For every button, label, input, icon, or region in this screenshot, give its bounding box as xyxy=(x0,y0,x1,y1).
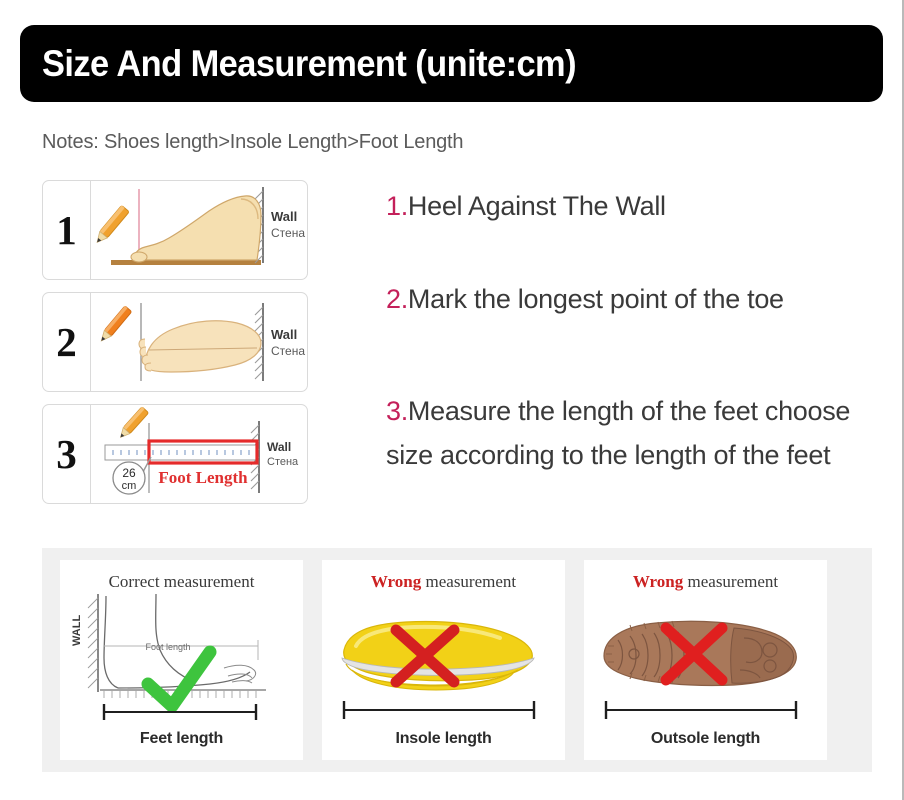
magnifier-value: 26 xyxy=(122,466,136,480)
inner-foot-length-label: Foot length xyxy=(145,642,190,652)
step-box-3: 3 xyxy=(42,404,308,504)
correct-measurement-diagram: WALL Foot length xyxy=(60,588,303,723)
step-box-1: 1 xyxy=(42,180,308,280)
wall-label-en: Wall xyxy=(271,209,297,224)
instruction-number: 2. xyxy=(386,284,408,314)
step-number: 3 xyxy=(56,434,77,475)
step-number-cell: 1 xyxy=(43,181,91,279)
comparison-card-insole: Wrong measurement xyxy=(322,560,565,760)
wall-label-ru: Стена xyxy=(267,456,299,468)
wall-label-en: Wall xyxy=(271,327,297,342)
comparison-caption: Outsole length xyxy=(584,730,827,748)
wall-label-en: Wall xyxy=(267,440,291,454)
foot-top-view-icon: Wall Стена xyxy=(91,293,307,391)
instruction-text: Measure the length of the feet choose si… xyxy=(386,396,850,470)
magnifier-unit: cm xyxy=(122,480,137,492)
step-number: 2 xyxy=(56,322,77,363)
instruction-1: 1.Heel Against The Wall xyxy=(386,185,886,229)
instruction-3: 3.Measure the length of the feet choose … xyxy=(386,390,891,477)
foot-length-label: Foot Length xyxy=(158,468,248,487)
foot-side-profile-icon: Wall Стена xyxy=(91,181,307,279)
instruction-number: 3. xyxy=(386,396,408,426)
notes-text: Notes: Shoes length>Insole Length>Foot L… xyxy=(42,131,463,154)
ruler-measure-icon: 26 cm Foot Length Wall Стена xyxy=(91,405,307,503)
comparison-panel: Correct measurement WALL xyxy=(42,548,872,772)
step-number: 1 xyxy=(56,210,77,251)
step-number-cell: 2 xyxy=(43,293,91,391)
outsole-diagram xyxy=(584,588,827,723)
comparison-card-correct: Correct measurement WALL xyxy=(60,560,303,760)
step-number-cell: 3 xyxy=(43,405,91,503)
step-box-2: 2 xyxy=(42,292,308,392)
instruction-2: 2.Mark the longest point of the toe xyxy=(386,278,816,322)
instruction-number: 1. xyxy=(386,191,408,221)
instruction-text: Heel Against The Wall xyxy=(408,191,666,221)
comparison-caption: Insole length xyxy=(322,730,565,748)
wall-label-vertical: WALL xyxy=(71,615,83,646)
wall-label-ru: Стена xyxy=(271,226,305,240)
instruction-text: Mark the longest point of the toe xyxy=(408,284,784,314)
header-banner: Size And Measurement (unite:cm) xyxy=(20,25,883,102)
page-title: Size And Measurement (unite:cm) xyxy=(42,43,576,85)
comparison-caption: Feet length xyxy=(60,730,303,748)
wall-label-ru: Стена xyxy=(271,344,305,358)
insole-diagram xyxy=(322,588,565,723)
green-check-icon xyxy=(148,652,210,706)
comparison-card-outsole: Wrong measurement xyxy=(584,560,827,760)
size-chart-page: Size And Measurement (unite:cm) Notes: S… xyxy=(0,0,904,800)
